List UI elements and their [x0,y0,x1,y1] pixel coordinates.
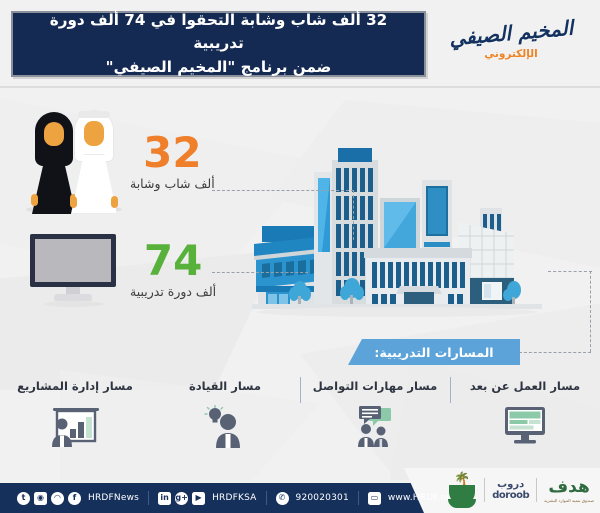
city-skyline-illustration [252,140,552,340]
igal-band [78,111,110,118]
hrdf-arabic: هدف [548,477,589,497]
footer-logos: 🌴 دروب doroob هدف صندوق تنمية الموارد ال… [447,469,594,511]
track-communication-skills[interactable]: مسار مهارات التواصل [300,375,450,470]
city-skyline-svg [252,140,552,340]
tracks-banner: المسارات التدريبية: [348,339,520,365]
track-label: مسار مهارات التواصل [313,379,437,393]
headline: 32 ألف شاب وشابة التحقوا في 74 ألف دورة … [13,9,424,80]
man-hand-left [70,196,77,208]
track-label: مسار العمل عن بعد [470,379,580,393]
stat-label: ألف دورة تدريبية [130,284,216,299]
track-remote-work[interactable]: مسار العمل عن بعد [450,375,600,470]
logo-separator [536,478,537,502]
emblem-arc [448,499,476,508]
connector-line-banner-bottom [519,352,591,353]
header-divider [0,86,600,88]
connector-line-banner-vertical [590,271,591,352]
track-project-management[interactable]: مسار إدارة المشاريع [0,375,150,470]
stat-young-people: 32 ألف شاب وشابة [18,108,219,216]
man-hand-right [111,196,118,208]
doroob-arabic: دروب [497,479,524,490]
track-divider [300,377,301,403]
stat-training-courses: 74 ألف دورة تدريبية [18,232,220,308]
monitor-icon [497,405,553,449]
google-plus-icon[interactable]: g+ [175,492,188,505]
footer-group-hrdfksa[interactable]: in g+ ▶ HRDFKSA [149,492,265,505]
hrdf-logo: هدف صندوق تنمية الموارد البشرية [544,477,594,503]
woman-hand-left [31,194,38,206]
youtube-icon[interactable]: ▶ [192,492,205,505]
stat-label: ألف شاب وشابة [130,176,215,191]
headline-line-1: 32 ألف شاب وشابة التحقوا في 74 ألف دورة … [23,9,414,56]
facebook-icon[interactable]: f [68,492,81,505]
man-figure [70,108,118,210]
stat-number: 74 [130,241,216,281]
hrdf-caption: صندوق تنمية الموارد البشرية [544,498,594,503]
connector-line-74-horizontal [212,272,308,273]
man-face [84,121,104,146]
two-people-chat-icon [347,405,403,449]
summer-camp-logo: المخيم الصيفي الإلكتروني [436,9,586,71]
training-tracks: مسار العمل عن بعد مسار مهارات التواصل [0,375,600,470]
headline-line-2: ضمن برنامج "المخيم الصيفي" [23,56,414,80]
logo-subtitle: الإلكتروني [484,48,537,60]
logo-title: المخيم الصيفي [448,15,574,50]
twitter-icon[interactable]: t [17,492,30,505]
footer-group-phone[interactable]: ✆ 920020301 [267,492,358,505]
connector-line-32-horizontal [212,190,354,191]
saudi-couple-illustration [18,108,130,216]
header: 32 ألف شاب وشابة التحقوا في 74 ألف دورة … [0,0,600,88]
linkedin-icon[interactable]: in [158,492,171,505]
desktop-monitor-illustration [18,232,130,308]
snapchat-icon[interactable]: ◠ [51,492,64,505]
person-lightbulb-icon [197,405,253,449]
monitor-screen [30,234,116,287]
tracks-banner-label: المسارات التدريبية: [374,345,493,360]
stat-text-group: 74 ألف دورة تدريبية [130,241,216,300]
monitor-base [54,294,92,301]
footer-group-hrdfnews[interactable]: t ◉ ◠ f HRDFNews [8,492,148,505]
website-icon[interactable]: ▭ [368,492,381,505]
track-label: مسار القيادة [189,379,261,393]
stat-text-group: 32 ألف شاب وشابة [130,133,215,192]
track-leadership[interactable]: مسار القيادة [150,375,300,470]
headline-box: 32 ألف شاب وشابة التحقوا في 74 ألف دورة … [11,11,426,77]
stat-number: 32 [130,133,215,173]
woman-face [44,122,64,146]
saudi-national-emblem: 🌴 [447,472,477,508]
monitor-shadow [44,301,104,307]
phone-icon[interactable]: ✆ [276,492,289,505]
connector-line-32-vertical [353,190,354,240]
infographic-page: 32 ألف شاب وشابة التحقوا في 74 ألف دورة … [0,0,600,513]
logo-separator [484,478,485,502]
footer-contact-items: t ◉ ◠ f HRDFNews in g+ ▶ HRDFKSA ✆ 92002… [0,483,478,513]
footer-handle: HRDFKSA [212,493,256,503]
instagram-icon[interactable]: ◉ [34,492,47,505]
connector-line-banner-top [548,271,592,272]
footer-handle: HRDFNews [88,493,139,503]
footer-phone-number: 920020301 [296,493,349,503]
doroob-english: doroob [492,490,529,501]
track-divider [450,377,451,403]
doroob-logo: دروب doroob [492,479,529,501]
track-label: مسار إدارة المشاريع [17,379,133,393]
presenter-chart-icon [47,405,103,449]
